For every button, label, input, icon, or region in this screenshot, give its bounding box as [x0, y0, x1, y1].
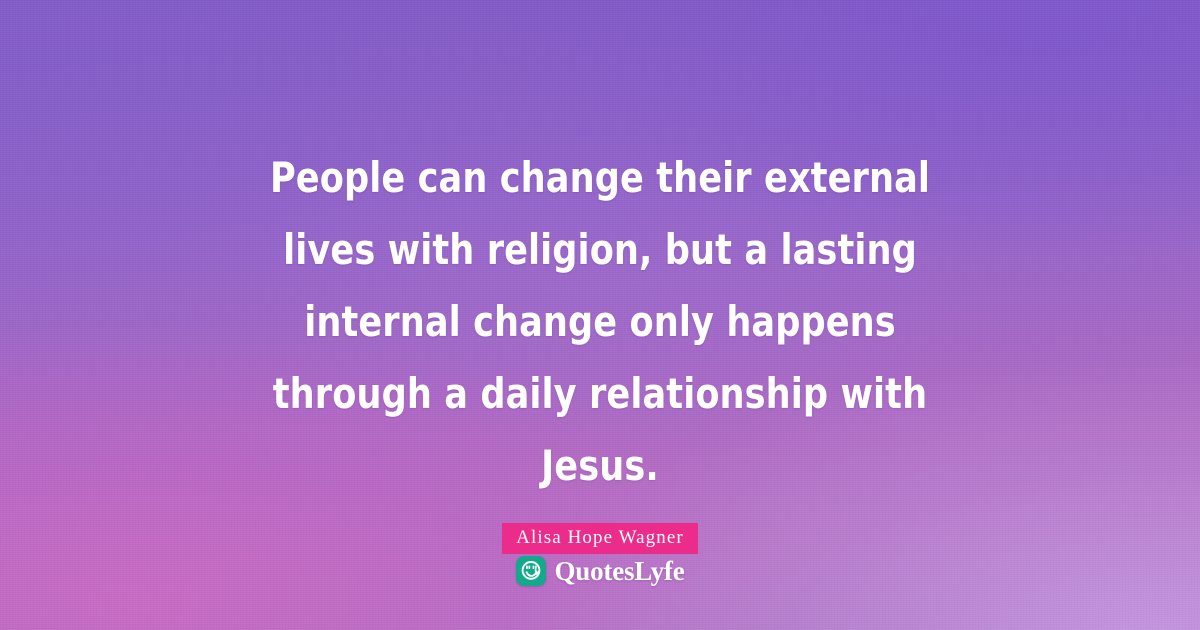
quote-card: People can change their external lives w… — [0, 0, 1200, 630]
author-name-badge: Alisa Hope Wagner — [502, 523, 698, 554]
card-content: People can change their external lives w… — [0, 0, 1200, 630]
quote-text: People can change their external lives w… — [237, 142, 962, 502]
